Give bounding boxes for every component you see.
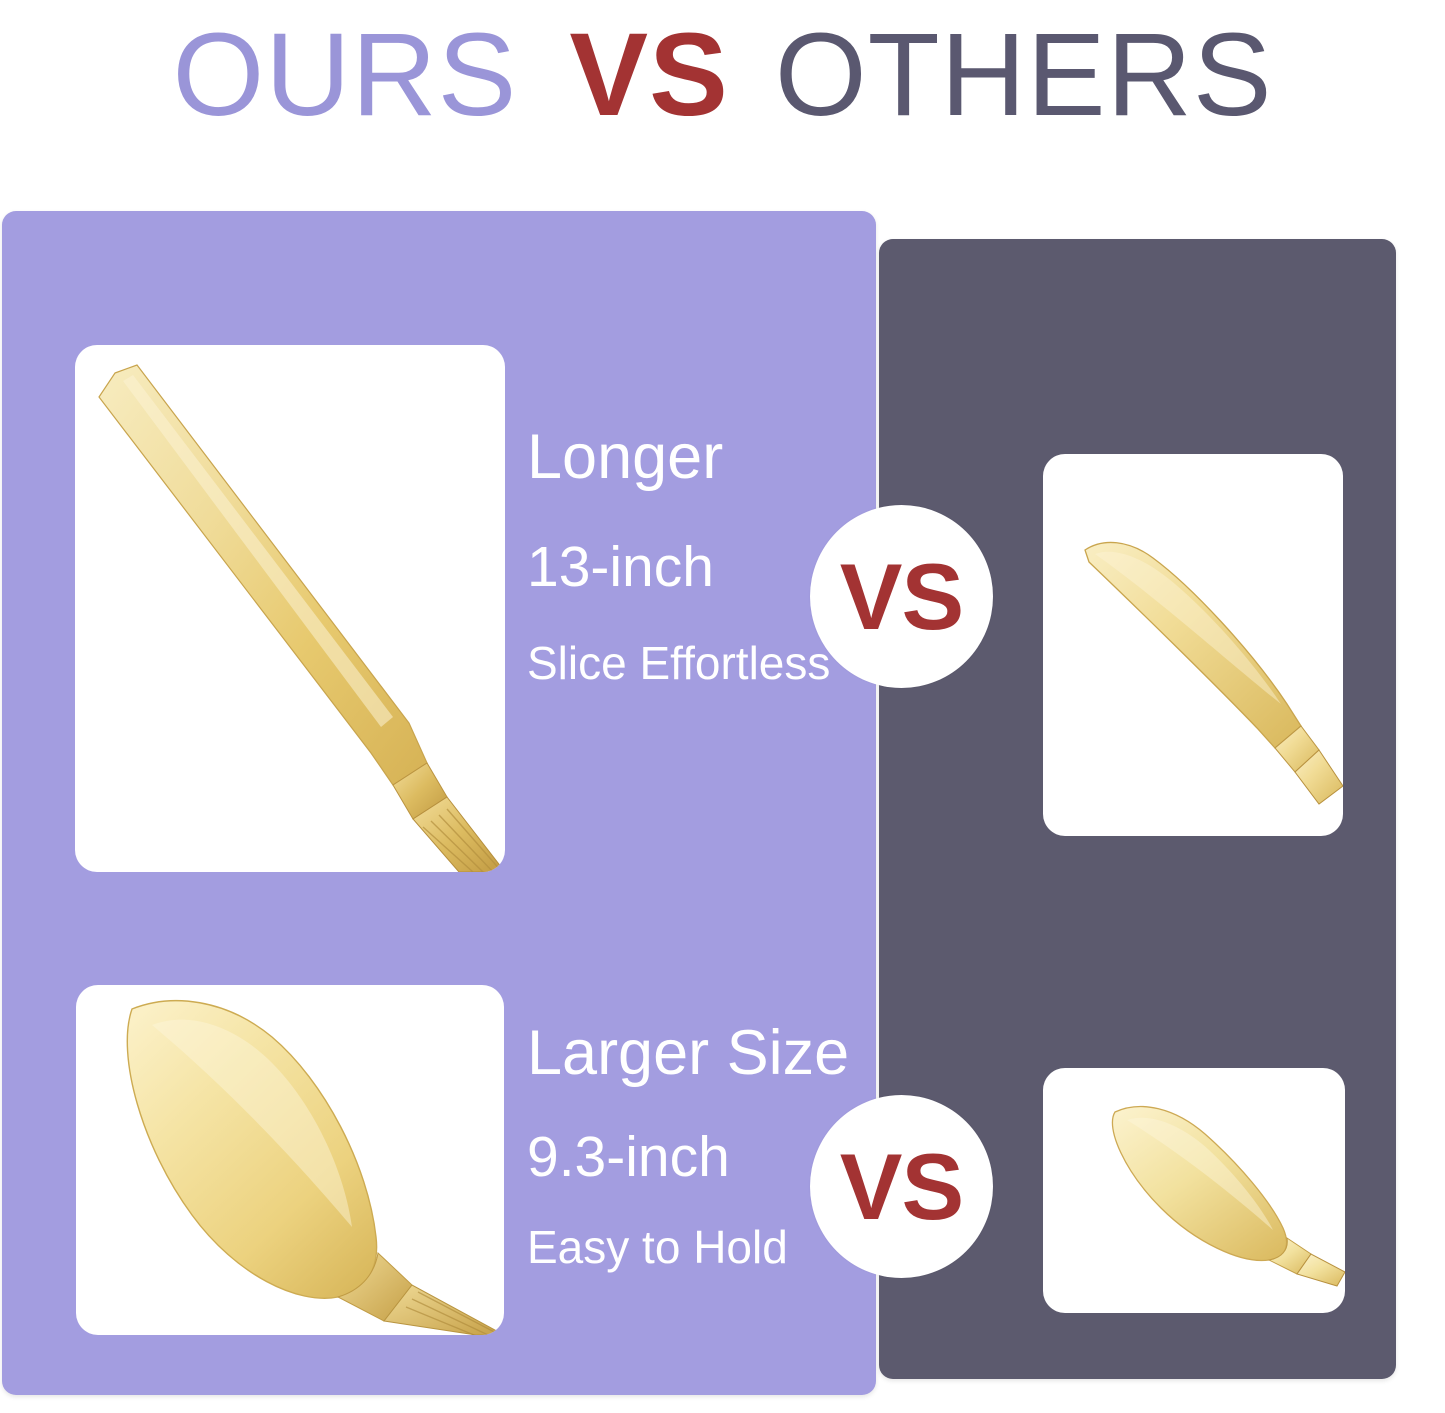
vs-badge-knife-label: VS bbox=[840, 550, 963, 644]
vs-badge-server-label: VS bbox=[840, 1140, 963, 1234]
page-title: OURS VS OTHERS bbox=[0, 0, 1445, 150]
gold-cake-knife-short-icon bbox=[1043, 454, 1343, 836]
gold-cake-knife-long-icon bbox=[75, 345, 505, 872]
vs-badge-server: VS bbox=[810, 1095, 993, 1278]
knife-headline: Longer bbox=[527, 424, 877, 491]
gold-cake-server-large-icon bbox=[76, 985, 504, 1335]
others-server-image-card bbox=[1043, 1068, 1345, 1313]
title-word-vs: VS bbox=[569, 16, 728, 134]
gold-cake-server-small-icon bbox=[1043, 1068, 1345, 1313]
vs-badge-knife: VS bbox=[810, 505, 993, 688]
server-headline: Larger Size bbox=[527, 1020, 877, 1087]
title-word-ours: OURS bbox=[172, 16, 517, 134]
ours-knife-image-card bbox=[75, 345, 505, 872]
title-word-others: OTHERS bbox=[775, 16, 1273, 134]
others-knife-image-card bbox=[1043, 454, 1343, 836]
ours-server-image-card bbox=[76, 985, 504, 1335]
